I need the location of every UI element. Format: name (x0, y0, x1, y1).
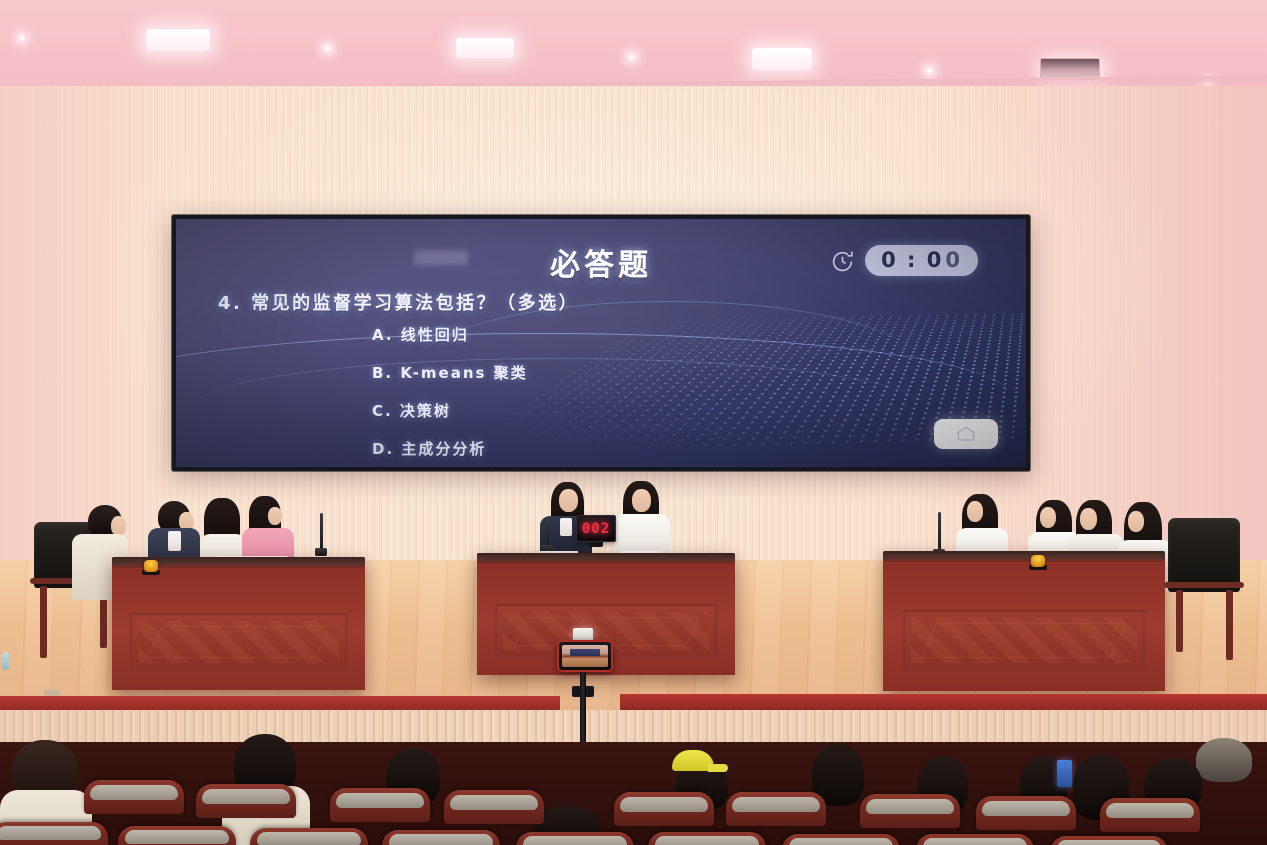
option-d[interactable]: D. 主成分分析 (372, 438, 528, 459)
option-c[interactable]: C. 决策树 (372, 400, 528, 421)
audience-phone[interactable] (1057, 760, 1072, 787)
audience-seat[interactable] (118, 826, 236, 845)
desk-front-panel (130, 613, 348, 672)
face (1128, 511, 1144, 532)
slide-home-button[interactable] (934, 419, 998, 449)
audience-seat[interactable] (382, 830, 500, 845)
team-desk-left (112, 557, 365, 690)
audience-seat[interactable] (444, 790, 544, 824)
desk-inlay (138, 621, 340, 664)
audience-seat[interactable] (84, 780, 184, 814)
countdown-timer[interactable]: 0 : 00 (830, 245, 978, 276)
water-bottle (2, 652, 9, 670)
team-desk-right (883, 551, 1165, 691)
dot-grid-near (176, 461, 1026, 467)
score-digits: 002 (582, 521, 610, 537)
face (1040, 507, 1056, 528)
answer-options-list: A. 线性回归 B. K-means 聚类 C. 决策树 D. 主成分分析 (372, 324, 528, 459)
chair-leg (40, 586, 47, 658)
audience-seat[interactable] (196, 784, 296, 818)
audience-seat[interactable] (860, 794, 960, 828)
empty-chair-right[interactable] (1168, 518, 1240, 592)
timer-partial-digit: 0 (945, 248, 962, 272)
panel-light (146, 29, 210, 51)
face (967, 501, 983, 522)
audience-seat[interactable] (250, 828, 368, 845)
downlight (627, 53, 636, 62)
seat-cushion (389, 834, 493, 845)
timer-readout: 0 : 00 (865, 245, 978, 276)
downlight (925, 66, 934, 75)
audience-seat[interactable] (1050, 836, 1168, 845)
buzzer-left[interactable] (144, 560, 158, 572)
phone-viewfinder (562, 645, 608, 667)
audience-seat[interactable] (0, 822, 108, 845)
seat-cushion (982, 801, 1070, 817)
audience-area (0, 742, 1267, 845)
desk-surface (883, 551, 1165, 562)
recording-smartphone[interactable] (557, 640, 613, 672)
audience-seat[interactable] (516, 832, 634, 845)
auditorium-scene: 必答题 0 : 00 4. 常见的监督学习算法包括？（多选） A. 线性回归 B… (0, 0, 1267, 845)
collar (560, 518, 572, 536)
stage-edge-trim-right (620, 694, 1267, 710)
presentation-slide: 必答题 0 : 00 4. 常见的监督学习算法包括？（多选） A. 线性回归 B… (176, 219, 1026, 467)
scoreboard-display: 002 (576, 515, 616, 542)
timer-value: 0 : 0 (881, 248, 943, 272)
seat-cushion (866, 799, 954, 815)
microphone-center[interactable] (546, 518, 549, 546)
desk-front-panel (903, 610, 1146, 672)
wave-curve (193, 358, 924, 457)
seat-cushion (732, 797, 820, 813)
seat-cushion (523, 836, 627, 845)
face (1080, 508, 1097, 530)
chair-leg (1176, 590, 1183, 652)
seat-cushion (1057, 840, 1161, 845)
microphone-left[interactable] (320, 513, 323, 549)
panel-light (752, 48, 812, 70)
audience-seat[interactable] (330, 788, 430, 822)
seat-cushion (450, 795, 538, 811)
cap-brim (708, 764, 728, 772)
desk-inlay (911, 618, 1138, 664)
seat-cushion (620, 797, 708, 813)
tripod-pole[interactable] (580, 672, 586, 750)
seat-cushion (125, 830, 229, 844)
audience-seat[interactable] (976, 796, 1076, 830)
led-display-screen: 必答题 0 : 00 4. 常见的监督学习算法包括？（多选） A. 线性回归 B… (172, 215, 1030, 471)
option-b[interactable]: B. K-means 聚类 (372, 362, 528, 383)
ceiling (0, 0, 1267, 92)
panel-light (456, 38, 514, 58)
stopwatch-icon (830, 248, 855, 273)
face (559, 489, 578, 512)
audience-seat[interactable] (726, 792, 826, 826)
seat-cushion (789, 838, 893, 845)
seat-cushion (655, 836, 759, 845)
downlight (323, 44, 332, 53)
scoreboard-stand (589, 542, 603, 547)
microphone-base (315, 548, 327, 556)
seat-cushion (0, 826, 101, 840)
buzzer-right[interactable] (1031, 555, 1045, 567)
seat-cushion (90, 785, 178, 801)
option-a[interactable]: A. 线性回归 (372, 324, 528, 345)
audience-seat[interactable] (648, 832, 766, 845)
chair-leg (1226, 590, 1233, 660)
desk-surface (477, 553, 735, 564)
microphone-right[interactable] (938, 512, 941, 550)
audience-seat[interactable] (614, 792, 714, 826)
audience-head (1196, 738, 1252, 782)
seat-cushion (923, 838, 1027, 845)
downlight (18, 34, 26, 42)
audience-seat[interactable] (916, 834, 1034, 845)
hvac-vent (1040, 58, 1100, 80)
seat-cushion (257, 832, 361, 845)
face (111, 516, 126, 536)
home-icon (953, 425, 979, 443)
seat-cushion (1106, 803, 1194, 819)
torso (614, 514, 670, 556)
chair-armrest (1164, 582, 1244, 588)
seat-cushion (336, 793, 424, 809)
collar (168, 531, 181, 551)
seat-cushion (202, 789, 290, 805)
audience-seat[interactable] (782, 834, 900, 845)
audience-seat[interactable] (1100, 798, 1200, 832)
face (268, 507, 282, 525)
face (632, 489, 651, 512)
question-text: 4. 常见的监督学习算法包括？（多选） (218, 289, 579, 315)
